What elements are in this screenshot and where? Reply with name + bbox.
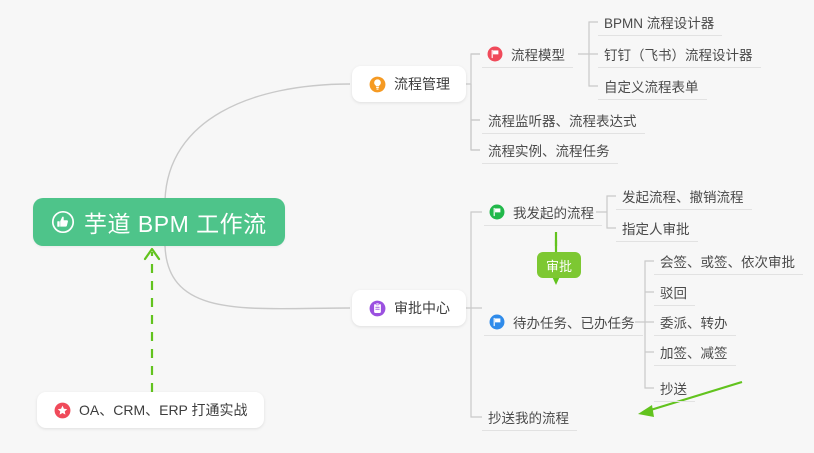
node-label: 我发起的流程	[513, 202, 594, 222]
node-my-initiated[interactable]: 我发起的流程	[484, 198, 602, 226]
bottom-card-label: OA、CRM、ERP 打通实战	[79, 400, 248, 420]
root-label: 芋道 BPM 工作流	[84, 205, 267, 239]
node-custom-form[interactable]: 自定义流程表单	[598, 72, 707, 100]
node-process-instance[interactable]: 流程实例、流程任务	[482, 136, 618, 164]
link-root-to-approval-center	[165, 246, 350, 309]
branch-approval-center[interactable]: 审批中心	[352, 290, 466, 326]
link-pm-children	[462, 54, 480, 150]
node-label: 流程模型	[511, 44, 565, 64]
branch-process-management[interactable]: 流程管理	[352, 66, 466, 102]
node-label: 钉钉（飞书）流程设计器	[604, 44, 753, 64]
star-icon	[53, 401, 71, 419]
node-label: 待办任务、已办任务	[513, 312, 635, 332]
bottom-highlight-card[interactable]: OA、CRM、ERP 打通实战	[37, 392, 264, 428]
node-cc-to-me[interactable]: 抄送我的流程	[482, 403, 577, 431]
clipboard-icon	[368, 299, 386, 317]
node-countersign[interactable]: 会签、或签、依次审批	[654, 247, 803, 275]
node-label: 自定义流程表单	[604, 76, 699, 96]
node-label: 流程实例、流程任务	[488, 140, 610, 160]
node-start-cancel-flow[interactable]: 发起流程、撤销流程	[616, 182, 752, 210]
node-label: 驳回	[660, 282, 687, 302]
branch-label: 流程管理	[394, 74, 450, 94]
link-model-children	[578, 22, 598, 86]
node-process-listener[interactable]: 流程监听器、流程表达式	[482, 106, 645, 134]
node-add-remove-sign[interactable]: 加签、减签	[654, 338, 736, 366]
mindmap-canvas: 芋道 BPM 工作流 流程管理 流程模型 BPMN 流程设计器 钉钉（飞书）流程	[0, 0, 814, 453]
node-process-model[interactable]: 流程模型	[482, 40, 573, 68]
node-dingtalk-designer[interactable]: 钉钉（飞书）流程设计器	[598, 40, 761, 68]
node-label: 抄送我的流程	[488, 407, 569, 427]
branch-label: 审批中心	[394, 298, 450, 318]
lightbulb-icon	[368, 75, 386, 93]
node-todo-done-tasks[interactable]: 待办任务、已办任务	[484, 308, 643, 336]
node-label: 发起流程、撤销流程	[622, 186, 744, 206]
link-root-to-process-management	[165, 84, 350, 200]
node-label: 指定人审批	[622, 218, 690, 238]
node-label: BPMN 流程设计器	[604, 12, 714, 32]
badge-label: 审批	[546, 256, 572, 275]
node-label: 加签、减签	[660, 342, 728, 362]
arrow-bottom-to-root	[145, 249, 159, 392]
node-reject[interactable]: 驳回	[654, 278, 695, 306]
flag-icon	[488, 313, 506, 331]
node-label: 委派、转办	[660, 312, 728, 332]
node-delegate-transfer[interactable]: 委派、转办	[654, 308, 736, 336]
node-bpmn-designer[interactable]: BPMN 流程设计器	[598, 8, 722, 36]
node-label: 流程监听器、流程表达式	[488, 110, 637, 130]
node-designated-approver[interactable]: 指定人审批	[616, 214, 698, 242]
approval-badge[interactable]: 审批	[537, 252, 581, 278]
thumbs-up-circle-icon	[51, 210, 75, 234]
flag-icon	[488, 203, 506, 221]
node-cc[interactable]: 抄送	[654, 374, 695, 402]
node-label: 抄送	[660, 378, 687, 398]
flag-icon	[486, 45, 504, 63]
node-label: 会签、或签、依次审批	[660, 251, 795, 271]
root-node[interactable]: 芋道 BPM 工作流	[33, 198, 285, 246]
